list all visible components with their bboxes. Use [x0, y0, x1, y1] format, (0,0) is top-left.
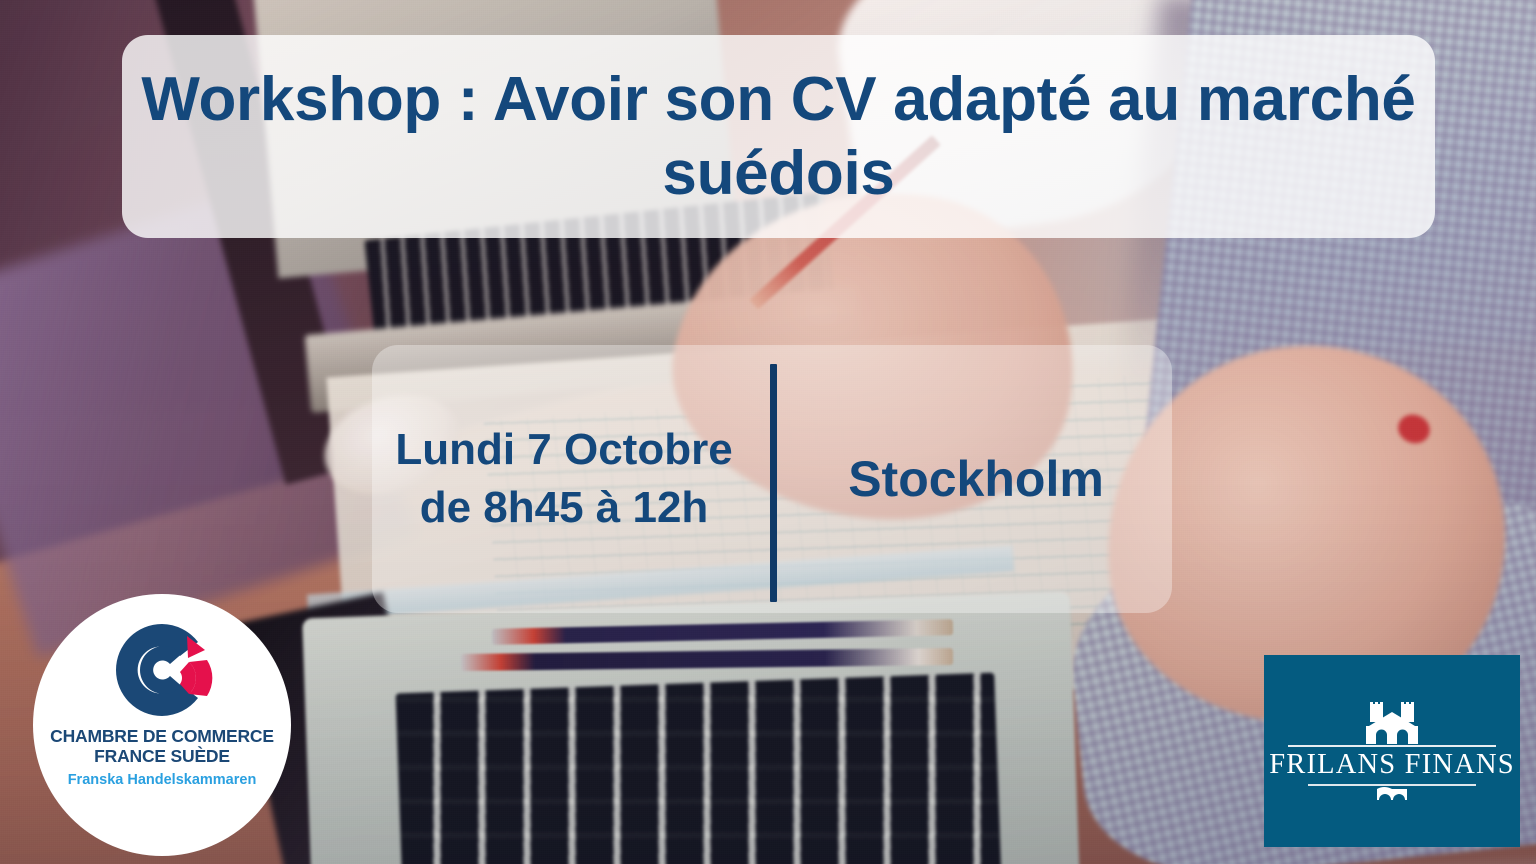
event-location: Stockholm: [770, 450, 1172, 508]
chamber-subtitle: Franska Handelskammaren: [68, 772, 257, 788]
partner-name: FRILANS FINANS: [1269, 747, 1515, 784]
castle-gate-icon: [1361, 700, 1423, 744]
cci-double-c-mark-icon: [110, 620, 214, 720]
vertical-divider: [770, 364, 777, 602]
event-details-panel: Lundi 7 Octobre de 8h45 à 12h Stockholm: [372, 345, 1172, 613]
page-title: Workshop : Avoir son CV adapté au marché…: [140, 63, 1417, 209]
event-poster: Workshop : Avoir son CV adapté au marché…: [0, 0, 1536, 864]
frilans-finans-lockup: FRILANS FINANS: [1288, 700, 1496, 802]
chamber-of-commerce-logo: CHAMBRE DE COMMERCE FRANCE SUÈDE Franska…: [33, 594, 291, 856]
frilans-finans-logo: FRILANS FINANS: [1264, 655, 1520, 847]
chamber-name-line2: FRANCE SUÈDE: [94, 746, 230, 766]
chamber-name-line1: CHAMBRE DE COMMERCE: [50, 726, 274, 746]
event-date: Lundi 7 Octobre de 8h45 à 12h: [372, 421, 770, 537]
bridge-icon: [1361, 785, 1423, 802]
title-panel: Workshop : Avoir son CV adapté au marché…: [122, 35, 1435, 238]
